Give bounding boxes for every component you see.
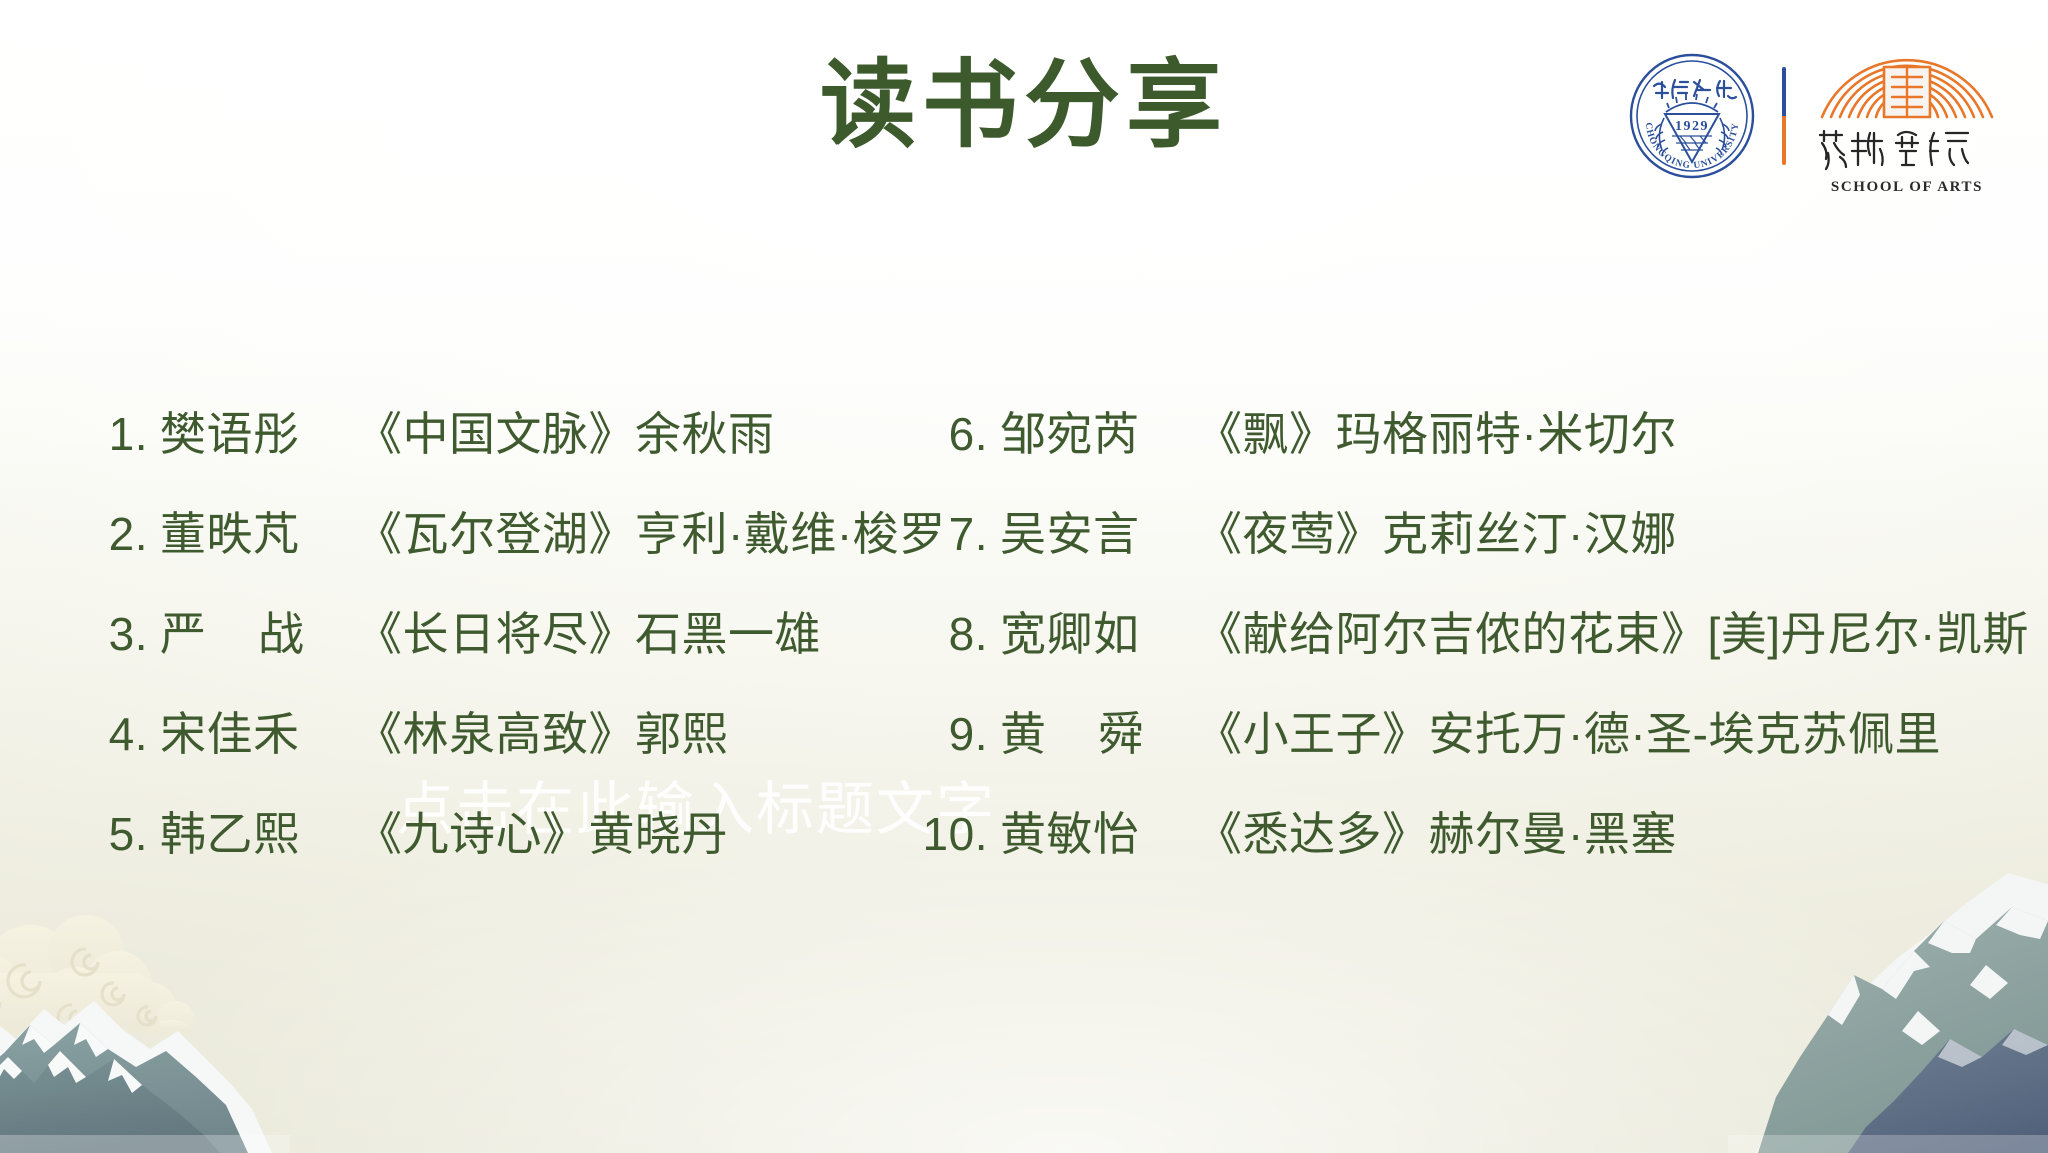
list-item: 2. 董昳芃 《瓦尔登湖》亨利·戴维·梭罗 bbox=[0, 498, 900, 598]
list-item-index: 9. bbox=[900, 707, 988, 761]
list-item-reader: 宽卿如 bbox=[1000, 598, 1196, 664]
list-item-reader: 黄敏怡 bbox=[1000, 798, 1196, 864]
list-item-index: 7. bbox=[900, 507, 988, 561]
slide-canvas: 读书分享 1929 bbox=[0, 0, 2048, 1153]
list-item: 7. 吴安言 《夜莺》克莉丝汀·汉娜 bbox=[900, 498, 2048, 598]
mountain-artwork-left bbox=[0, 853, 630, 1153]
list-item-book: 《九诗心》黄晓丹 bbox=[356, 798, 728, 864]
mountain-haze-right bbox=[1728, 1135, 2048, 1153]
list-item-index: 3. bbox=[86, 607, 148, 661]
list-item-book: 《瓦尔登湖》亨利·戴维·梭罗 bbox=[356, 498, 946, 564]
list-item: 9. 黄舜 《小王子》安托万·德·圣-埃克苏佩里 bbox=[900, 698, 2048, 798]
list-item-book: 《中国文脉》余秋雨 bbox=[356, 398, 775, 464]
list-item: 10. 黄敏怡 《悉达多》赫尔曼·黑塞 bbox=[900, 798, 2048, 898]
list-item: 6. 邹宛芮 《飘》玛格丽特·米切尔 bbox=[900, 398, 2048, 498]
list-item-book: 《悉达多》赫尔曼·黑塞 bbox=[1196, 798, 1677, 864]
list-item-reader: 宋佳禾 bbox=[160, 698, 356, 764]
list-item-index: 4. bbox=[86, 707, 148, 761]
list-item-reader: 董昳芃 bbox=[160, 498, 356, 564]
snow-streaks-right bbox=[1828, 907, 2048, 1045]
list-item: 8. 宽卿如 《献给阿尔吉侬的花束》[美]丹尼尔·凯斯 bbox=[900, 598, 2048, 698]
list-item-reader: 邹宛芮 bbox=[1000, 398, 1196, 464]
mountain-peak-front-right bbox=[1848, 1023, 2048, 1153]
list-item-index: 1. bbox=[86, 407, 148, 461]
list-item-reader: 韩乙熙 bbox=[160, 798, 356, 864]
logo-bar: 1929 CHONGQING UNIVERSITY bbox=[1628, 46, 2002, 186]
list-item: 5. 韩乙熙 《九诗心》黄晓丹 bbox=[0, 798, 900, 898]
cloud-spiral-left bbox=[0, 949, 156, 1031]
list-item-book: 《长日将尽》石黑一雄 bbox=[356, 598, 821, 664]
cloud-motif-left bbox=[0, 915, 194, 1043]
school-of-arts-english: SCHOOL OF ARTS bbox=[1831, 179, 1983, 196]
list-item-book: 《林泉高致》郭熙 bbox=[356, 698, 728, 764]
list-item-reader: 严战 bbox=[160, 598, 356, 664]
list-item-reader: 樊语彤 bbox=[160, 398, 356, 464]
list-item: 1. 樊语彤 《中国文脉》余秋雨 bbox=[0, 398, 900, 498]
list-item-book: 《小王子》安托万·德·圣-埃克苏佩里 bbox=[1196, 698, 1941, 764]
mountain-peak-back-left bbox=[0, 1023, 248, 1153]
list-item-reader: 吴安言 bbox=[1000, 498, 1196, 564]
list-item: 3. 严战 《长日将尽》石黑一雄 bbox=[0, 598, 900, 698]
list-item-book: 《飘》玛格丽特·米切尔 bbox=[1196, 398, 1677, 464]
arts-chinese-calligraphy bbox=[1812, 123, 2002, 177]
list-item-book: 《夜莺》克莉丝汀·汉娜 bbox=[1196, 498, 1677, 564]
list-item-reader: 黄舜 bbox=[1000, 698, 1196, 764]
fan-arc-icon bbox=[1812, 37, 2002, 121]
list-item-index: 8. bbox=[900, 607, 988, 661]
snow-ridge-left bbox=[0, 1001, 272, 1153]
mountain-peak-front-left bbox=[0, 1051, 220, 1153]
list-item-index: 10. bbox=[900, 807, 988, 861]
list-item-index: 2. bbox=[86, 507, 148, 561]
list-item-book: 《献给阿尔吉侬的花束》[美]丹尼尔·凯斯 bbox=[1196, 598, 2029, 664]
logo-divider bbox=[1782, 67, 1786, 165]
list-item-index: 6. bbox=[900, 407, 988, 461]
svg-text:1929: 1929 bbox=[1675, 119, 1709, 134]
book-list: 1. 樊语彤 《中国文脉》余秋雨 2. 董昳芃 《瓦尔登湖》亨利·戴维·梭罗 3… bbox=[0, 398, 2048, 898]
list-item-index: 5. bbox=[86, 807, 148, 861]
snow-caps-left bbox=[0, 1023, 142, 1093]
school-of-arts-logo: SCHOOL OF ARTS bbox=[1812, 37, 2002, 196]
mountain-haze-left bbox=[0, 1135, 290, 1153]
chongqing-university-seal-icon: 1929 CHONGQING UNIVERSITY bbox=[1628, 52, 1756, 180]
list-item: 4. 宋佳禾 《林泉高致》郭熙 bbox=[0, 698, 900, 798]
snow-caps-right bbox=[1938, 1029, 2048, 1067]
snow-ridge-right bbox=[1756, 863, 2048, 1153]
mountain-range-right bbox=[1758, 899, 2048, 1153]
